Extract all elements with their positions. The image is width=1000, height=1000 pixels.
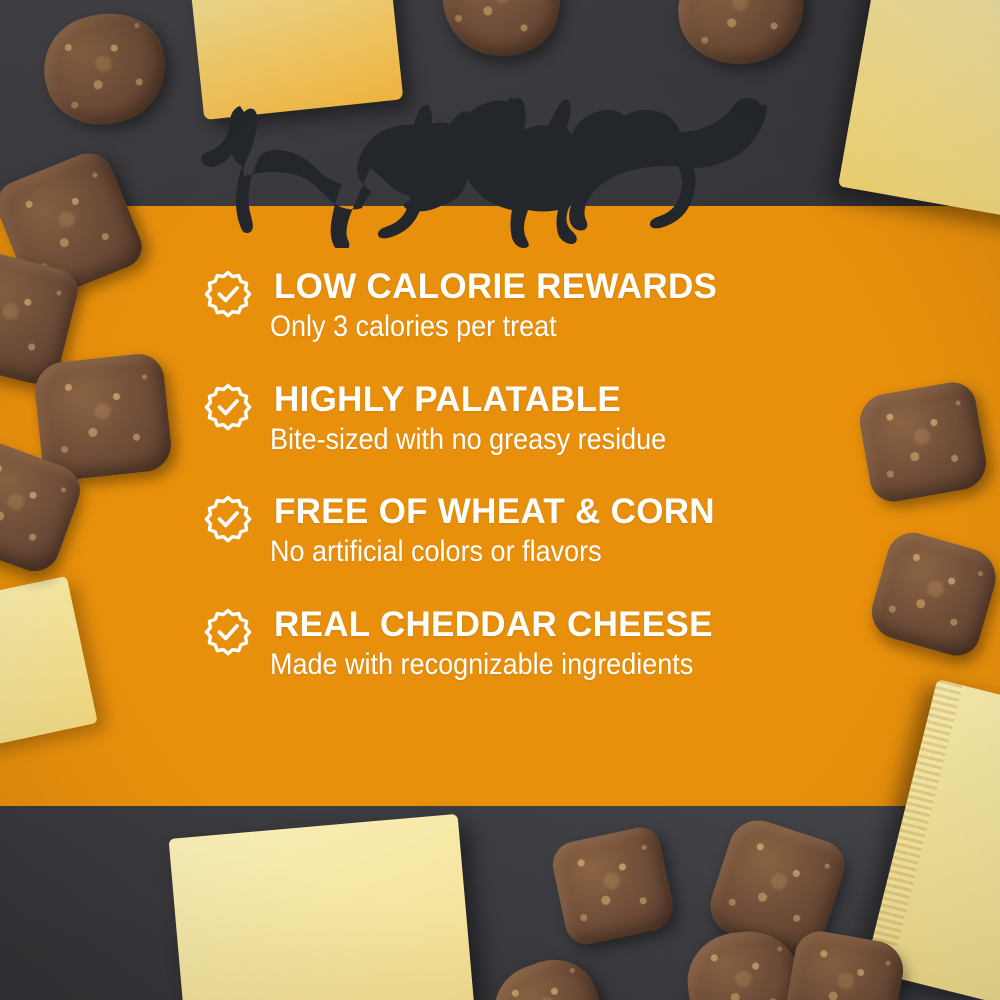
feature-list: LOW CALORIE REWARDS Only 3 calories per … bbox=[196, 268, 876, 682]
check-badge-icon bbox=[204, 383, 252, 431]
feature-title: REAL CHEDDAR CHEESE bbox=[274, 606, 876, 643]
three-dogs-silhouette bbox=[196, 96, 768, 248]
feature-title: LOW CALORIE REWARDS bbox=[274, 268, 876, 305]
feature-subtitle: Only 3 calories per treat bbox=[270, 310, 815, 344]
feature-item-real-cheddar-cheese: REAL CHEDDAR CHEESE Made with recognizab… bbox=[196, 606, 876, 682]
product-feature-panel: LOW CALORIE REWARDS Only 3 calories per … bbox=[0, 0, 1000, 1000]
feature-item-highly-palatable: HIGHLY PALATABLE Bite-sized with no grea… bbox=[196, 381, 876, 457]
feature-subtitle: No artificial colors or flavors bbox=[270, 535, 815, 569]
check-badge-icon bbox=[204, 608, 252, 656]
feature-item-low-calorie-rewards: LOW CALORIE REWARDS Only 3 calories per … bbox=[196, 268, 876, 344]
cheese-slice-bottom-left bbox=[169, 814, 478, 1000]
feature-subtitle: Made with recognizable ingredients bbox=[270, 648, 815, 682]
feature-item-free-of-wheat-and-corn: FREE OF WHEAT & CORN No artificial color… bbox=[196, 493, 876, 569]
feature-subtitle: Bite-sized with no greasy residue bbox=[270, 423, 815, 457]
feature-title: HIGHLY PALATABLE bbox=[274, 381, 876, 418]
check-badge-icon bbox=[204, 270, 252, 318]
feature-title: FREE OF WHEAT & CORN bbox=[274, 493, 876, 530]
check-badge-icon bbox=[204, 495, 252, 543]
